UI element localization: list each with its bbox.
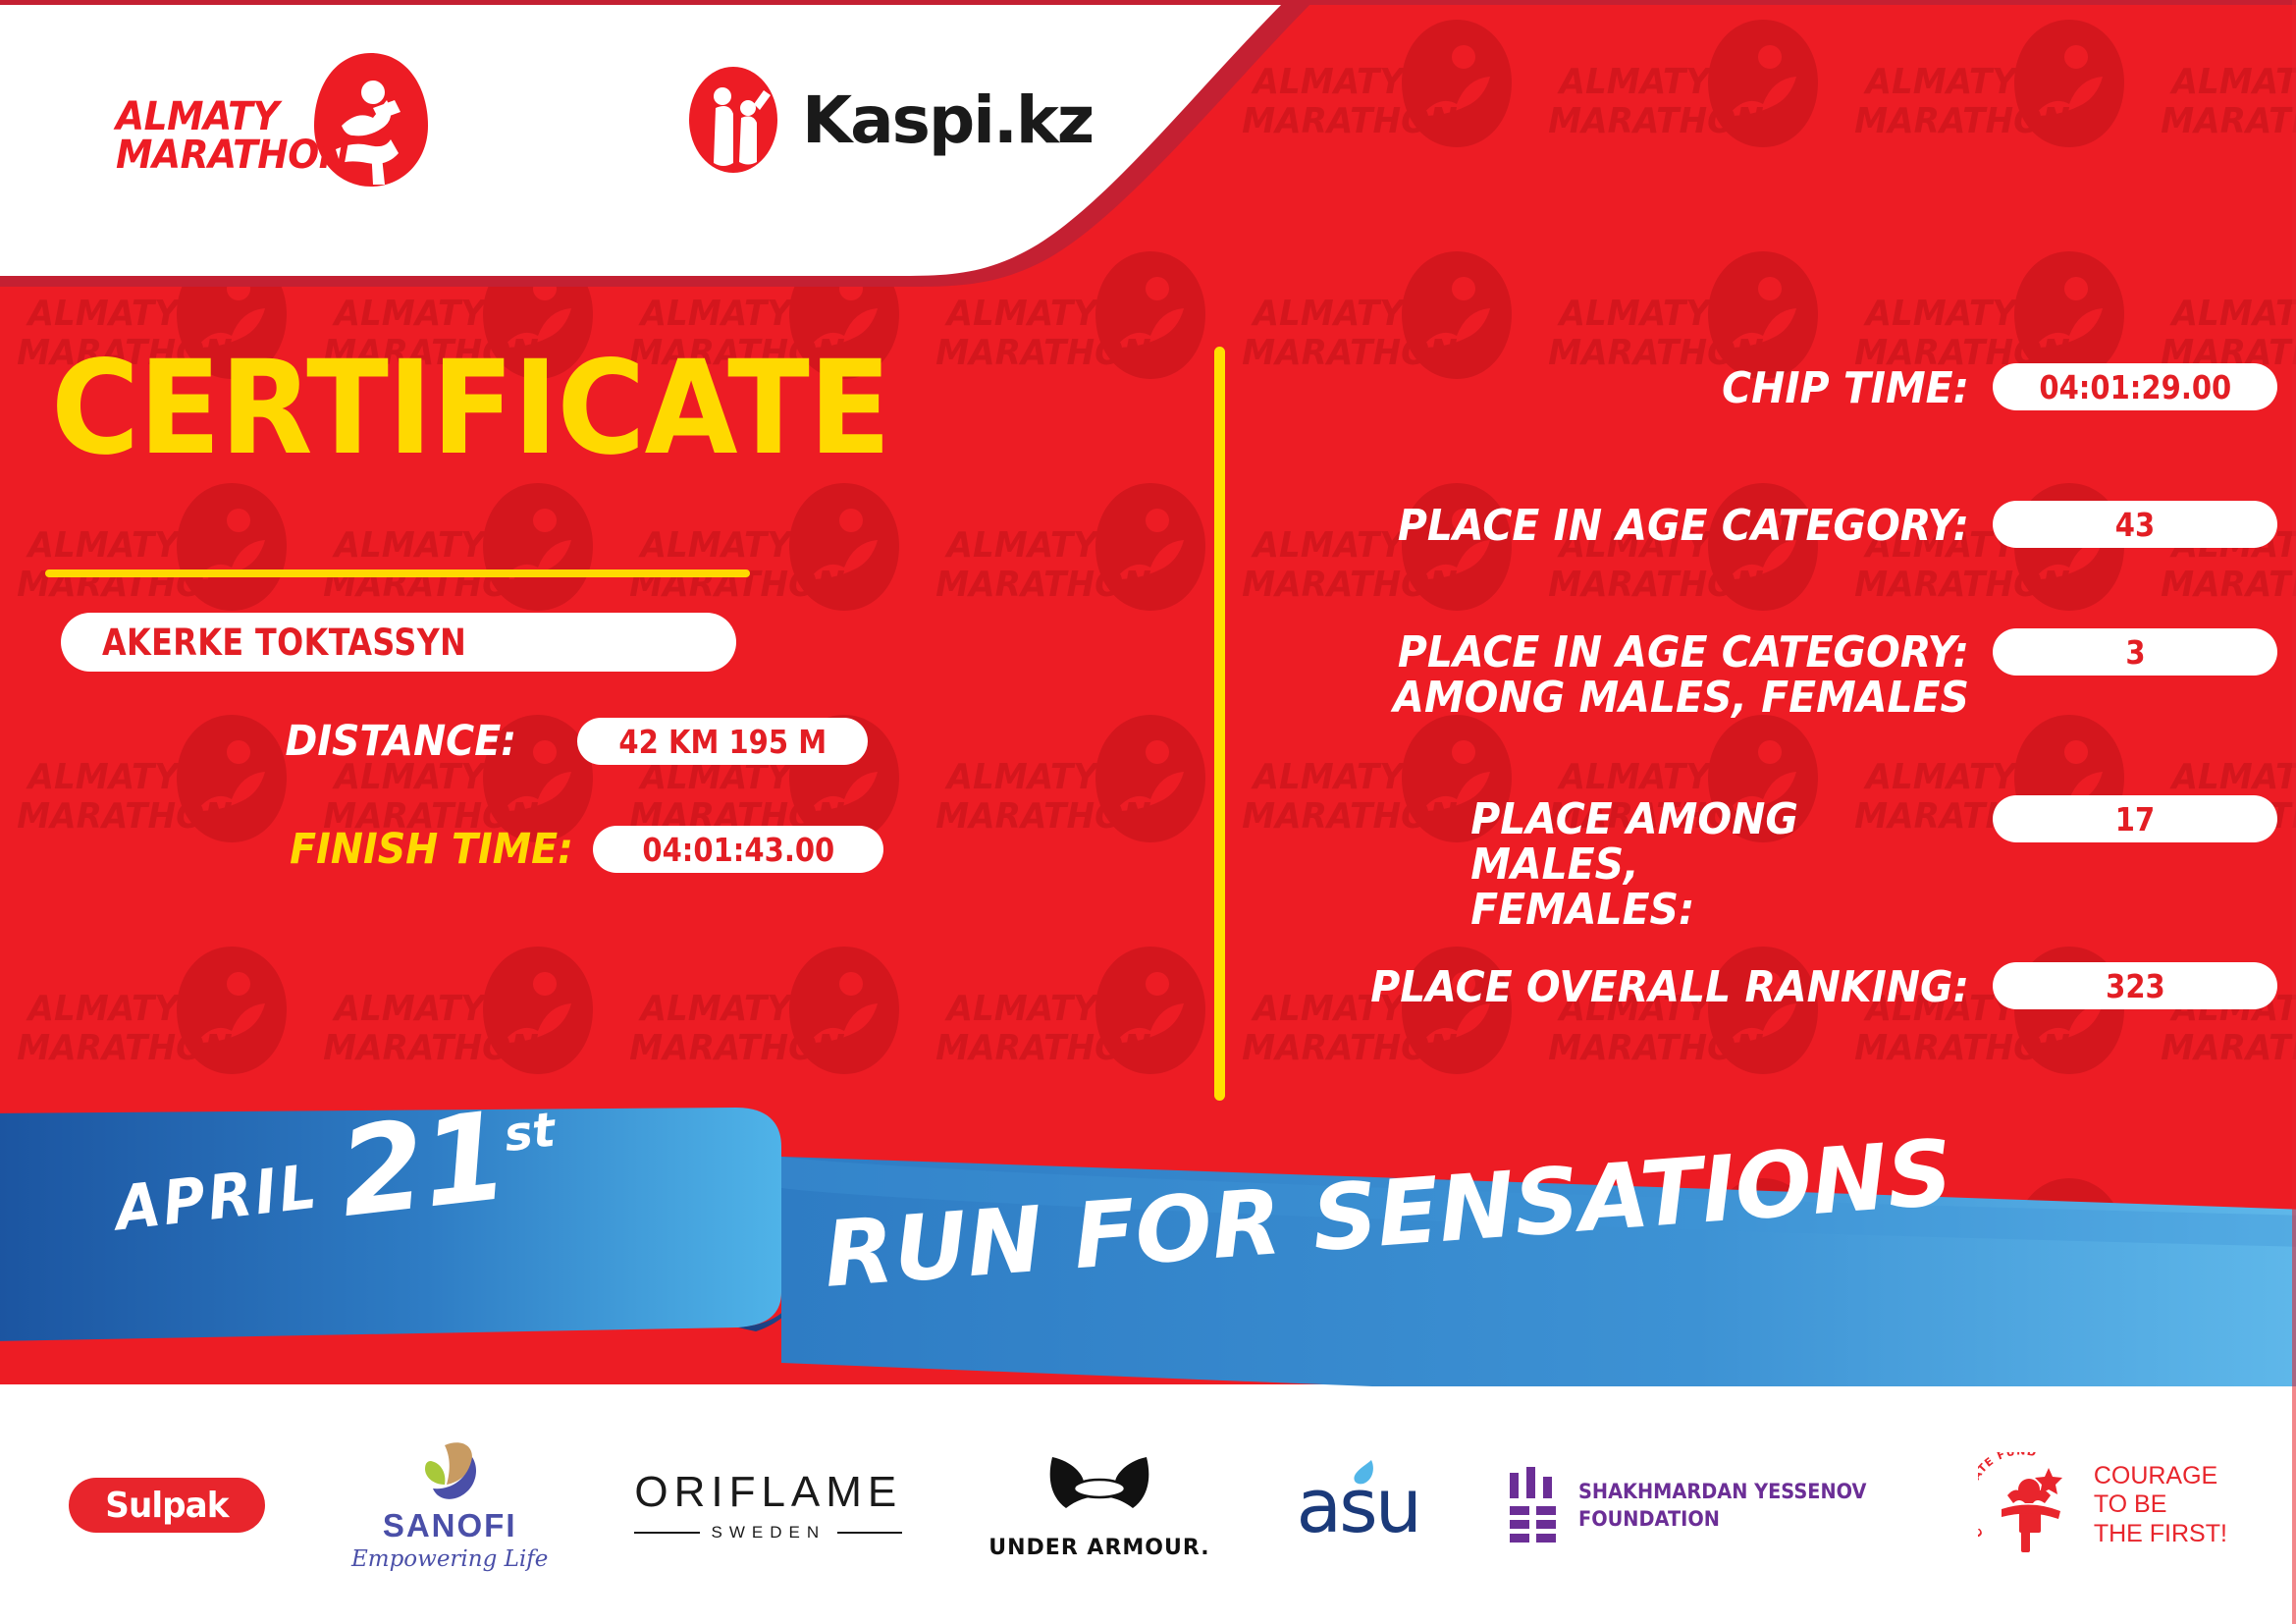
result-label: PLACE IN AGE CATEGORY: [1307, 501, 1969, 549]
top-accent-rule [0, 0, 2296, 5]
finish-time-value: 04:01:43.00 [642, 831, 834, 869]
sponsor-oriflame: ORIFLAME SWEDEN [634, 1427, 902, 1584]
sponsor-sanofi: SANOFI Empowering Life [351, 1427, 548, 1584]
participant-name: AKERKE TOKTASSYN [102, 622, 466, 664]
sulpak-logo: Sulpak [69, 1478, 265, 1533]
sanofi-mark-icon [415, 1439, 484, 1504]
distance-value: 42 KM 195 M [618, 723, 827, 761]
courage-wordmark: COURAGE TO BE THE FIRST! [2094, 1462, 2227, 1549]
sponsor-yessenov: SHAKHMARDAN YESSENOV FOUNDATION [1506, 1427, 1892, 1584]
distance-value-pill: 42 KM 195 M [577, 718, 868, 765]
result-value: 3 [2125, 633, 2145, 672]
title-underline-rule [45, 569, 750, 577]
left-column: CERTIFICATE AKERKE TOKTASSYN DISTANCE: 4… [0, 324, 1178, 1110]
courage-line-3: THE FIRST! [2094, 1520, 2227, 1549]
oriflame-wordmark: ORIFLAME [634, 1468, 902, 1517]
oriflame-country: SWEDEN [712, 1523, 827, 1543]
sulpak-wordmark: Sulpak [105, 1486, 228, 1526]
finish-time-value-pill: 04:01:43.00 [593, 826, 883, 873]
almaty-marathon-wordmark: ALMATY MARATHON [116, 98, 381, 175]
oriflame-rule-right [837, 1532, 902, 1534]
results-column: CHIP TIME: 04:01:29.00 PLACE IN AGE CATE… [1256, 363, 2277, 1110]
courage-line-2: TO BE [2094, 1490, 2227, 1520]
result-value-pill: 04:01:29.00 [1993, 363, 2277, 410]
result-label: PLACE AMONG MALES, FEMALES: [1307, 795, 1969, 934]
sponsor-asu: asu [1297, 1427, 1419, 1584]
sanofi-tagline: Empowering Life [351, 1546, 548, 1572]
result-value-pill: 3 [1993, 628, 2277, 676]
yessenov-line-1: SHAKHMARDAN YESSENOV [1578, 1478, 1866, 1505]
result-label: PLACE IN AGE CATEGORY: AMONG MALES, FEMA… [1307, 628, 1969, 721]
result-value: 04:01:29.00 [2039, 368, 2231, 406]
certificate-title: CERTIFICATE [51, 344, 1055, 473]
finish-time-row: FINISH TIME: 04:01:43.00 [265, 825, 883, 874]
result-value-pill: 43 [1993, 501, 2277, 548]
result-row-place-among-gender: PLACE AMONG MALES, FEMALES: 17 [1256, 795, 2277, 934]
sanofi-wordmark: SANOFI [383, 1507, 517, 1544]
result-value: 17 [2115, 800, 2155, 839]
distance-label: DISTANCE: [285, 717, 516, 766]
participant-name-field: AKERKE TOKTASSYN [61, 613, 736, 672]
result-label: CHIP TIME: [1307, 363, 1969, 411]
courage-line-1: COURAGE [2094, 1462, 2227, 1491]
event-day-ordinal: st [502, 1103, 559, 1163]
result-row-overall-ranking: PLACE OVERALL RANKING: 323 [1256, 962, 2277, 1010]
sponsor-courage-fund: CORPORATE FUND COURAGE TO BE THE FIRST! [1978, 1427, 2227, 1584]
right-edge-rule [2292, 0, 2296, 1624]
sponsor-under-armour: UNDER ARMOUR. [988, 1427, 1209, 1584]
courage-fund-icon: CORPORATE FUND [1978, 1452, 2084, 1558]
oriflame-subline: SWEDEN [634, 1523, 902, 1543]
oriflame-rule-left [634, 1532, 699, 1534]
kaspi-wordmark: Kaspi.kz [802, 82, 1093, 158]
result-value-pill: 323 [1993, 962, 2277, 1009]
kaspi-logo: Kaspi.kz [687, 61, 1093, 179]
result-label: PLACE OVERALL RANKING: [1307, 962, 1969, 1010]
logo-line-2: MARATHON [116, 136, 365, 175]
almaty-marathon-logo: ALMATY MARATHON [116, 61, 440, 189]
distance-row: DISTANCE: 42 KM 195 M [265, 717, 868, 766]
yessenov-wordmark: SHAKHMARDAN YESSENOV FOUNDATION [1578, 1478, 1866, 1534]
vertical-divider [1214, 347, 1225, 1101]
result-row-place-age-category: PLACE IN AGE CATEGORY: 43 [1256, 501, 2277, 549]
logo-line-1: ALMATY [116, 98, 365, 136]
sponsor-footer: Sulpak SANOFI Empowering Life ORIFLAME S… [0, 1386, 2296, 1624]
result-row-chip-time: CHIP TIME: 04:01:29.00 [1256, 363, 2277, 411]
asu-wordmark: asu [1297, 1462, 1419, 1549]
asu-drop-icon [1350, 1458, 1379, 1491]
event-day: 21 [335, 1103, 511, 1230]
sponsor-sulpak: Sulpak [69, 1427, 265, 1584]
under-armour-icon [1041, 1451, 1158, 1528]
certificate-canvas: ALMATY MARATHON [0, 0, 2296, 1624]
result-row-place-age-category-gender: PLACE IN AGE CATEGORY: AMONG MALES, FEMA… [1256, 628, 2277, 721]
yessenov-mark-icon [1506, 1467, 1561, 1543]
result-value: 43 [2115, 506, 2155, 544]
yessenov-line-2: FOUNDATION [1578, 1505, 1866, 1533]
under-armour-wordmark: UNDER ARMOUR. [988, 1536, 1209, 1560]
result-value-pill: 17 [1993, 795, 2277, 842]
kaspi-mark-icon [687, 65, 780, 175]
logo-zone: ALMATY MARATHON Kaspi.kz [0, 0, 1178, 285]
finish-time-label: FINISH TIME: [290, 825, 573, 874]
result-value: 323 [2106, 967, 2165, 1005]
